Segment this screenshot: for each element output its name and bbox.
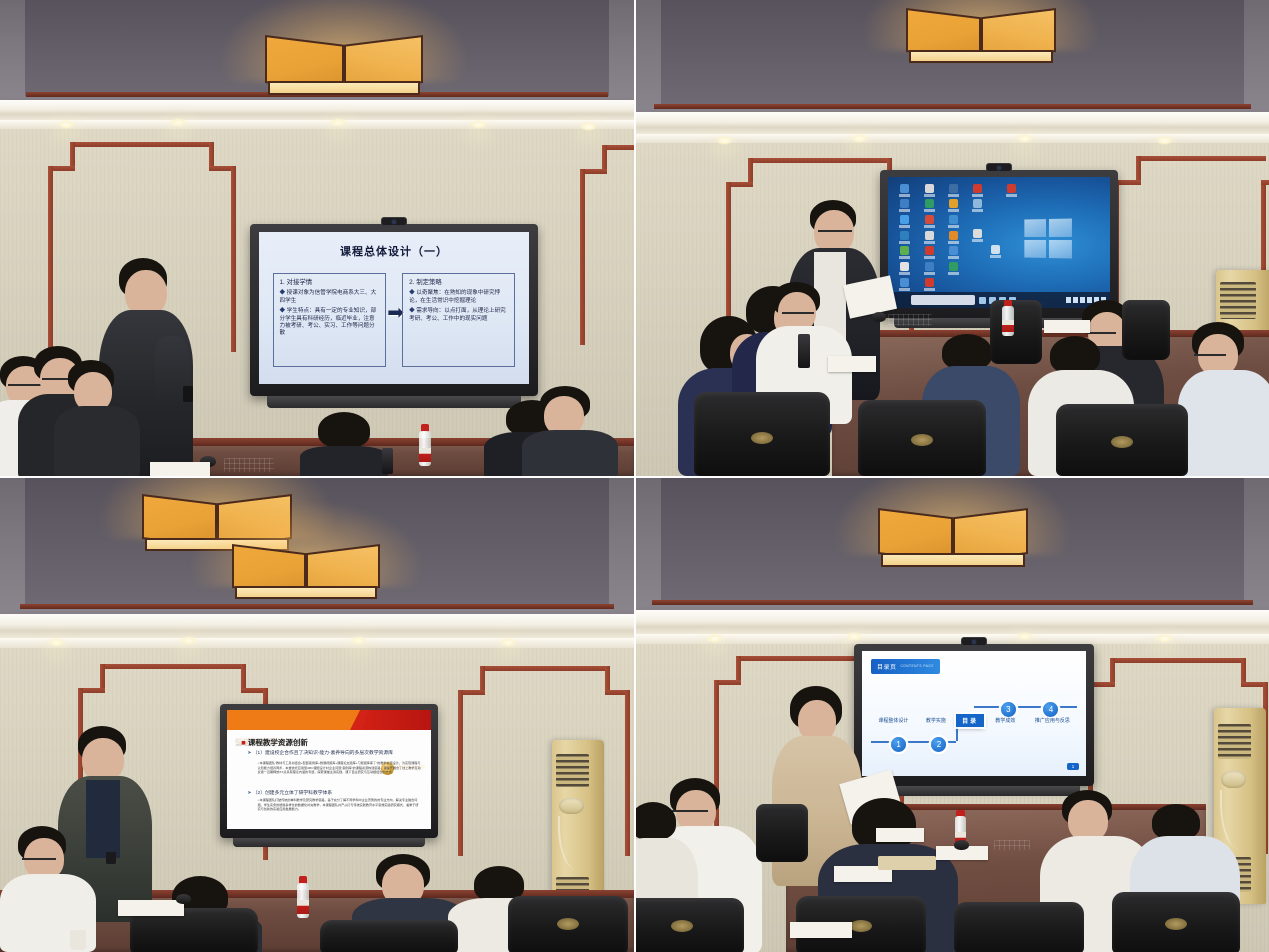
downlight (851, 134, 868, 143)
slide-teaching-resources: 课程内容建设 南京审计大学 课程教学资源创新 （1）建设校企合作且了决知识-能力… (227, 710, 431, 829)
presentation-clicker (183, 386, 193, 402)
office-chair (858, 400, 986, 476)
downlight (580, 122, 597, 131)
crown-molding-bl (0, 614, 634, 638)
point-1-detail: 本课程团队“教材与工具书结合+配套案例库+微课视频库+课程论文题库+习题题库库了… (258, 761, 421, 774)
crown-molding-tl (0, 100, 634, 120)
point-2-label: （2）创建多元立体了研学科教学体系 (247, 789, 420, 796)
water-bottle (1002, 300, 1014, 336)
glasses-icon (1194, 354, 1226, 356)
right-bullet-1: 以奇聚焦：在熟知的现象中研究悖论，在生活常识中挖掘理论 (409, 290, 508, 305)
wall-frame-molding-right (458, 666, 630, 856)
windows-desktop[interactable] (888, 177, 1110, 308)
microphone (798, 334, 810, 368)
point-2-detail: 本课程团队打破传统的单科教学及研究教学思路，基于充分了解不同学科中企业普惠的的专… (258, 798, 421, 811)
timeline-node-3: 3 (1001, 702, 1016, 717)
crown-molding-lower-tl (0, 120, 634, 129)
attendee-person (1180, 322, 1269, 476)
mouse[interactable] (954, 840, 969, 850)
office-chair (990, 300, 1042, 364)
ceiling-wood-trim (652, 600, 1253, 605)
papers (150, 462, 210, 476)
panel-top-right (636, 0, 1269, 476)
ceiling-lantern (906, 0, 1056, 66)
downlight (58, 120, 75, 129)
office-chair (694, 392, 830, 476)
timeline-node-4: 4 (1043, 702, 1058, 717)
crown-molding-lower-br (636, 634, 1269, 644)
papers (790, 922, 852, 938)
glasses-icon (818, 230, 852, 232)
downlight (180, 636, 197, 645)
ceiling-wood-trim (20, 604, 614, 609)
right-heading: 2. 制定策略 (409, 279, 508, 287)
left-heading: 1. 对接学情 (280, 279, 379, 287)
panel-bottom-left: 课程内容建设 南京审计大学 课程教学资源创新 （1）建设校企合作且了决知识-能力… (0, 478, 634, 952)
windows-logo-icon (1025, 218, 1072, 258)
notebook (878, 856, 936, 870)
attendee-person (58, 360, 138, 476)
downlight (500, 638, 517, 647)
panel-top-left: 课程总体设计（一） 1. 对接学情 授课对象为信管学院电商系大三、大四学生 学生… (0, 0, 634, 476)
office-chair (756, 804, 808, 862)
downlight (330, 118, 347, 127)
presentation-clicker (106, 852, 116, 864)
keyboard[interactable] (888, 314, 932, 326)
office-chair (1122, 300, 1170, 360)
panel-bottom-right: 目录页 CONTENTS PAGE ))) 1 2 3 4 课程整体设计 (636, 478, 1269, 952)
left-bullet-2: 学生特点：具有一定的专业知识，部分学生具有科研经历，临近毕业，注意力被考研、考公… (280, 308, 379, 338)
webcam-icon (961, 637, 987, 646)
ceiling-lantern (265, 26, 423, 98)
glasses-icon (782, 312, 814, 314)
papers (876, 828, 924, 842)
crown-molding-tr (636, 112, 1269, 134)
timeline-label-2: 教学实施 (916, 717, 956, 724)
office-chair (320, 920, 458, 952)
slide-column-right: 2. 制定策略 以奇聚焦：在熟知的现象中研究悖论，在生活常识中挖掘理论 需求导向… (402, 273, 515, 367)
webcam-icon (986, 163, 1012, 172)
mouse[interactable] (872, 312, 886, 322)
slide-title: 课程总体设计（一） (259, 243, 529, 259)
meeting-room-tr (636, 0, 1269, 476)
downlight (170, 118, 187, 127)
slide-agenda-timeline: 目录页 CONTENTS PAGE ))) 1 2 3 4 课程整体设计 (862, 651, 1086, 776)
office-chair (954, 902, 1084, 952)
crown-molding-lower-bl (0, 638, 634, 648)
downlight (1016, 134, 1033, 143)
slide-course-design: 课程总体设计（一） 1. 对接学情 授课对象为信管学院电商系大三、大四学生 学生… (259, 232, 529, 384)
office-chair (1112, 892, 1240, 952)
downlight (350, 636, 367, 645)
downlight (1016, 632, 1033, 641)
crown-molding-br (636, 610, 1269, 634)
meeting-room-br: 目录页 CONTENTS PAGE ))) 1 2 3 4 课程整体设计 (636, 478, 1269, 952)
arrow-right-icon: ➡ (387, 303, 403, 317)
wall-frame-molding-right (580, 145, 634, 345)
glasses-icon (1086, 332, 1116, 334)
ceiling-lantern (232, 536, 380, 602)
point-1-label: （1）建设校企合作且了决知识-能力-素养导向的多层次教学资源库 (247, 749, 420, 756)
photo-collage: 课程总体设计（一） 1. 对接学情 授课对象为信管学院电商系大三、大四学生 学生… (0, 0, 1269, 952)
papers (118, 900, 184, 916)
water-bottle (418, 424, 432, 466)
office-chair (1056, 404, 1188, 476)
timeline-node-1: 1 (891, 737, 906, 752)
office-chair (636, 898, 744, 952)
wall-display-br[interactable]: 目录页 CONTENTS PAGE ))) 1 2 3 4 课程整体设计 (854, 644, 1094, 786)
wall-display-tl[interactable]: 课程总体设计（一） 1. 对接学情 授课对象为信管学院电商系大三、大四学生 学生… (250, 224, 538, 396)
downlight (846, 632, 863, 641)
keyboard[interactable] (224, 458, 274, 472)
mouse[interactable] (176, 894, 191, 904)
timeline-label-4: 推广应用与反思 (1026, 717, 1080, 724)
left-bullet-1: 授课对象为信管学院电商系大三、大四学生 (280, 290, 379, 305)
current-section-marker: 目录 (956, 714, 984, 727)
cup (70, 930, 86, 950)
downlight (1156, 634, 1173, 643)
taskbar-search-input[interactable] (911, 295, 975, 305)
meeting-room-tl: 课程总体设计（一） 1. 对接学情 授课对象为信管学院电商系大三、大四学生 学生… (0, 0, 634, 476)
tag-main: 目录页 (877, 662, 897, 671)
microphone (382, 448, 393, 474)
slide-column-left: 1. 对接学情 授课对象为信管学院电商系大三、大四学生 学生特点：具有一定的专业… (273, 273, 386, 367)
downlight (48, 638, 65, 647)
wall-display-tr[interactable] (880, 170, 1118, 318)
attendee-person (524, 386, 616, 476)
papers (828, 356, 876, 372)
attendee-person (300, 412, 386, 476)
papers (1044, 320, 1090, 333)
timeline-label-3: 教学成效 (985, 717, 1025, 724)
wall-display-bl[interactable]: 课程内容建设 南京审计大学 课程教学资源创新 （1）建设校企合作且了决知识-能力… (220, 704, 438, 838)
glasses-icon (22, 858, 56, 860)
timeline-segment (974, 706, 1077, 708)
slide-banner (227, 710, 431, 730)
downlight (716, 136, 733, 145)
downlight (706, 634, 723, 643)
wave-icon: ))) (929, 659, 938, 669)
ceiling-lantern (878, 500, 1028, 570)
grid-divider-horizontal (0, 476, 1269, 478)
right-bullet-2: 需求导向：以点打面，从理论上研究考研、考公、工作中的现实问题 (409, 308, 508, 323)
office-chair (508, 896, 628, 952)
water-bottle (296, 876, 310, 918)
keyboard[interactable] (994, 840, 1030, 850)
page-number-badge: 1 (1067, 763, 1080, 770)
downlight (470, 120, 487, 129)
webcam-icon (381, 217, 407, 226)
downlight (1156, 136, 1173, 145)
meeting-room-bl: 课程内容建设 南京审计大学 课程教学资源创新 （1）建设校企合作且了决知识-能力… (0, 478, 634, 952)
slide-heading: 课程教学资源创新 (241, 737, 308, 748)
ceiling-wood-trim (654, 104, 1251, 109)
timeline-node-2: 2 (931, 737, 946, 752)
